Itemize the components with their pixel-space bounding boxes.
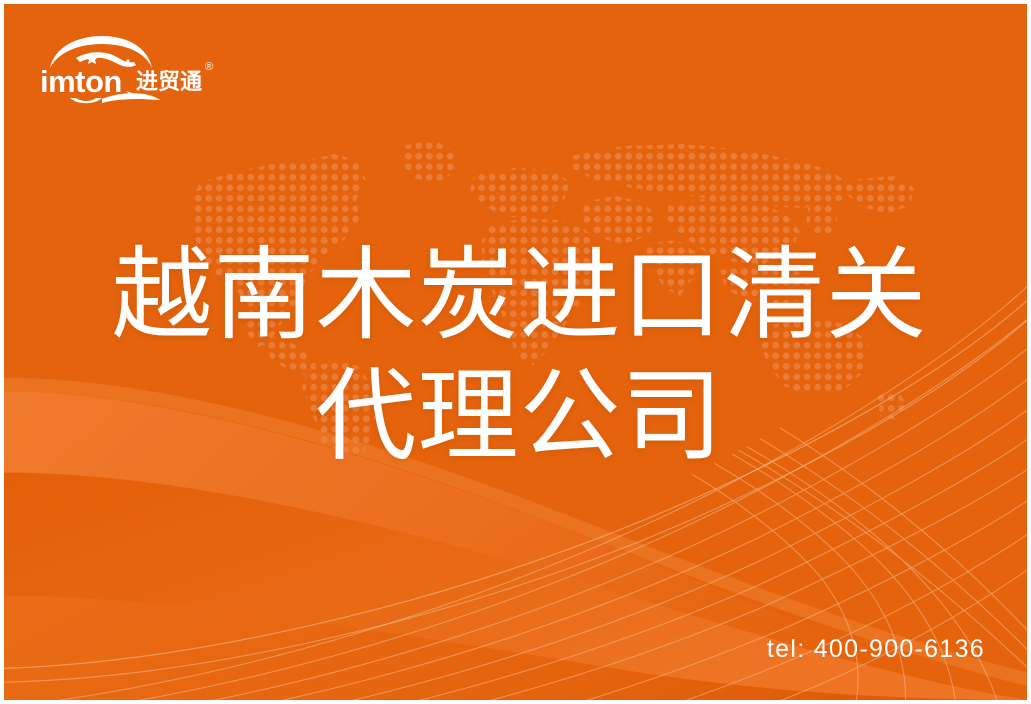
promo-banner: imton 进贸通 ® 越南木炭进口清关 代理公司 tel: 400-900-6… — [0, 0, 1031, 704]
contact-phone[interactable]: tel: 400-900-6136 — [767, 637, 985, 662]
page-title: 越南木炭进口清关 代理公司 — [4, 236, 1031, 478]
logo-chinese-name: 进贸通 — [136, 70, 202, 95]
imton-logo[interactable]: imton 进贸通 ® — [40, 34, 220, 106]
logo-wordmark: imton — [40, 64, 122, 99]
page-title-line-2: 代理公司 — [4, 357, 1031, 478]
trademark-icon: ® — [205, 61, 213, 73]
page-title-line-1: 越南木炭进口清关 — [4, 236, 1031, 357]
